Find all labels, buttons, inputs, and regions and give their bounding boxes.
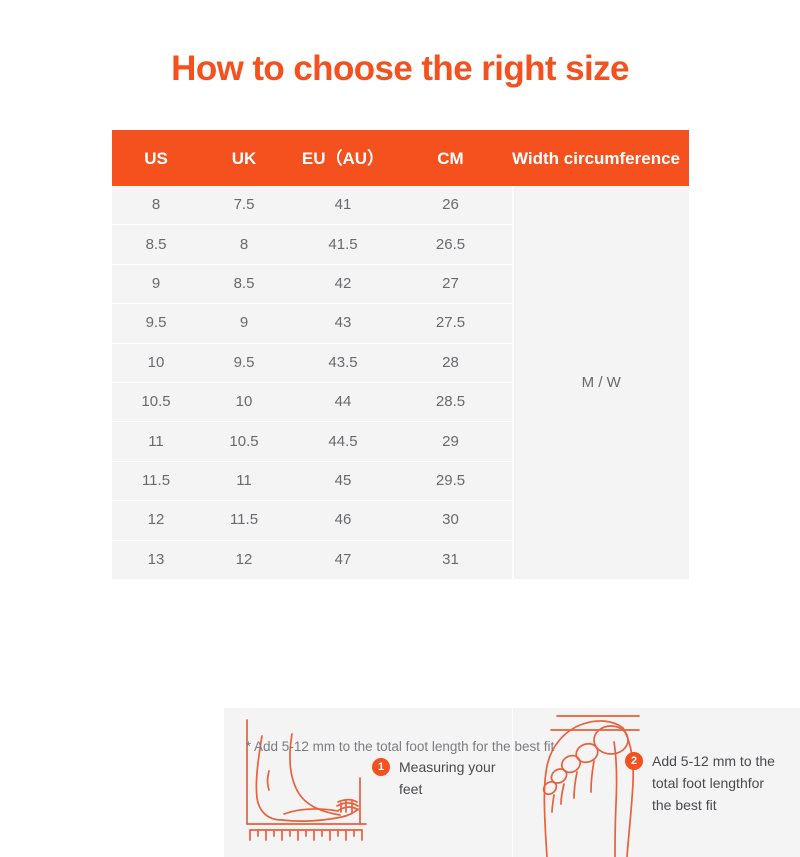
cell-uk: 8 (200, 236, 288, 254)
cell-us: 9.5 (112, 314, 200, 332)
cell-uk: 12 (200, 551, 288, 569)
cell-cm: 27 (398, 275, 503, 293)
cell-eu: 41 (288, 196, 398, 214)
table-rows-container: 8 7.5 41 26 8.5 8 41.5 26.5 9 8.5 42 27 (112, 186, 512, 579)
cell-cm: 31 (398, 551, 503, 569)
cell-us: 13 (112, 551, 200, 569)
cell-eu: 45 (288, 472, 398, 490)
size-chart-table: US UK EU（AU） CM Width circumference 8 7.… (112, 130, 689, 579)
cell-cm: 26.5 (398, 236, 503, 254)
page-title: How to choose the right size (0, 47, 800, 91)
cell-uk: 10.5 (200, 433, 288, 451)
step-1-cell: 1 Measuring your feet (224, 708, 512, 857)
table-row: 10.5 10 44 28.5 (112, 382, 512, 421)
cell-cm: 29.5 (398, 472, 503, 490)
cell-eu: 44 (288, 393, 398, 411)
footnote: * Add 5-12 mm to the total foot length f… (0, 738, 800, 756)
cell-cm: 28.5 (398, 393, 503, 411)
size-guide-page: How to choose the right size US UK EU（AU… (0, 0, 800, 800)
table-body: 8 7.5 41 26 8.5 8 41.5 26.5 9 8.5 42 27 (112, 186, 689, 579)
cell-cm: 30 (398, 511, 503, 529)
instructions-row: 1 Measuring your feet (224, 707, 800, 857)
cell-us: 9 (112, 275, 200, 293)
cell-cm: 27.5 (398, 314, 503, 332)
cell-uk: 11 (200, 472, 288, 490)
column-header-uk: UK (200, 149, 288, 168)
cell-us: 11.5 (112, 472, 200, 490)
step-2-cell: 2 Add 5-12 mm to the total foot lengthfo… (512, 708, 800, 857)
step-1-text: Measuring your feet (399, 756, 497, 800)
column-header-eu: EU（AU） (288, 149, 398, 168)
table-row: 9.5 9 43 27.5 (112, 303, 512, 342)
cell-us: 8 (112, 196, 200, 214)
cell-cm: 28 (398, 354, 503, 372)
table-row: 8 7.5 41 26 (112, 186, 512, 224)
cell-eu: 44.5 (288, 433, 398, 451)
cell-us: 8.5 (112, 236, 200, 254)
cell-us: 10.5 (112, 393, 200, 411)
cell-us: 12 (112, 511, 200, 529)
table-row: 13 12 47 31 (112, 540, 512, 579)
cell-eu: 43 (288, 314, 398, 332)
table-row: 10 9.5 43.5 28 (112, 343, 512, 382)
table-row: 11.5 11 45 29.5 (112, 461, 512, 500)
step-2: 2 Add 5-12 mm to the total foot lengthfo… (625, 750, 785, 816)
column-header-cm: CM (398, 149, 503, 168)
cell-uk: 9 (200, 314, 288, 332)
table-row: 11 10.5 44.5 29 (112, 421, 512, 460)
cell-eu: 41.5 (288, 236, 398, 254)
cell-cm: 29 (398, 433, 503, 451)
cell-us: 11 (112, 433, 200, 451)
cell-eu: 42 (288, 275, 398, 293)
column-header-us: US (112, 149, 200, 168)
step-2-text: Add 5-12 mm to the total foot lengthfor … (652, 750, 785, 816)
cell-uk: 7.5 (200, 196, 288, 214)
step-1-number-badge: 1 (372, 758, 390, 776)
table-row: 12 11.5 46 30 (112, 500, 512, 539)
cell-uk: 9.5 (200, 354, 288, 372)
step-1: 1 Measuring your feet (372, 756, 497, 800)
cell-uk: 8.5 (200, 275, 288, 293)
table-header-row: US UK EU（AU） CM Width circumference (112, 130, 689, 186)
foot-side-view-with-ruler-icon (242, 716, 372, 848)
cell-width-circumference: M / W (514, 186, 690, 579)
cell-eu: 47 (288, 551, 398, 569)
column-header-width-circumference: Width circumference (503, 149, 689, 168)
cell-uk: 11.5 (200, 511, 288, 529)
cell-uk: 10 (200, 393, 288, 411)
table-row: 9 8.5 42 27 (112, 264, 512, 303)
cell-cm: 26 (398, 196, 503, 214)
cell-eu: 43.5 (288, 354, 398, 372)
table-row: 8.5 8 41.5 26.5 (112, 224, 512, 263)
cell-us: 10 (112, 354, 200, 372)
cell-eu: 46 (288, 511, 398, 529)
